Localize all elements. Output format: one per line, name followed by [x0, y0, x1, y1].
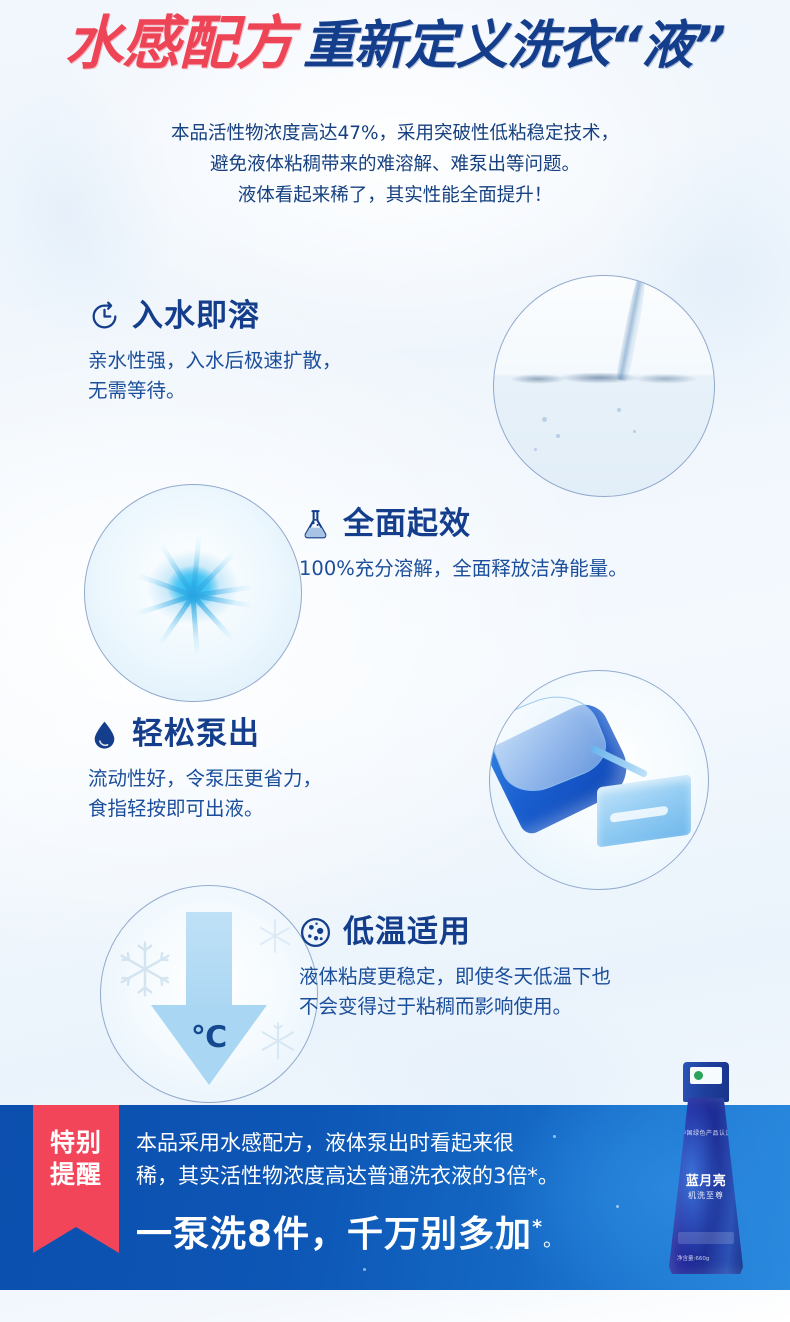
banner-body-line-1: 本品采用水感配方，液体泵出时看起来很: [136, 1127, 559, 1160]
banner-body-line-2: 稀，其实活性物浓度高达普通洗衣液的3倍*。: [136, 1160, 559, 1193]
snowflake-icon: [255, 916, 295, 956]
water-surface-shape: [494, 373, 714, 385]
snowflake-icon: [114, 938, 176, 1000]
bubble-icon: [534, 448, 537, 451]
feature-3-title-row: 轻松泵出: [88, 718, 322, 751]
dotted-circle-icon: [299, 916, 332, 949]
feature-image-water-splash: [84, 484, 302, 702]
feature-2-title: 全面起效: [343, 509, 471, 540]
banner-slogan-text: 一泵洗8件，千万别多加: [136, 1214, 532, 1255]
flask-icon: [299, 508, 332, 541]
water-stream-shape: [615, 275, 650, 382]
feature-4-desc-line-2: 不会变得过于粘稠而影响使用。: [299, 992, 611, 1022]
bottle-cap-certification-label: [690, 1067, 722, 1084]
sparkle-dot: [363, 1268, 366, 1271]
bubble-icon: [556, 434, 560, 438]
feature-image-hand-pump: [489, 670, 709, 890]
feature-2-desc-line-1: 100%充分溶解，全面释放洁净能量。: [299, 554, 628, 584]
banner-slogan-period: 。: [543, 1227, 564, 1251]
feature-image-low-temperature: ℃: [100, 885, 318, 1103]
banner-body-text: 本品采用水感配方，液体泵出时看起来很 稀，其实活性物浓度高达普通洗衣液的3倍*。: [136, 1127, 559, 1193]
bottle-sub-label: 机洗至尊: [669, 1190, 743, 1201]
feature-1-desc-line-1: 亲水性强，入水后极速扩散，: [88, 346, 342, 376]
headline-blue-text: 重新定义洗衣“液”: [303, 16, 725, 76]
page-header: 水感配方重新定义洗衣“液”: [0, 0, 790, 104]
feature-1-description: 亲水性强，入水后极速扩散， 无需等待。: [88, 346, 342, 406]
intro-line-1: 本品活性物浓度高达47%，采用突破性低粘稳定技术，: [0, 118, 790, 149]
feature-block-2: 全面起效 100%充分溶解，全面释放洁净能量。: [299, 508, 628, 584]
feature-4-description: 液体粘度更稳定，即使冬天低温下也 不会变得过于粘稠而影响使用。: [299, 962, 611, 1022]
product-detail-page: 水感配方重新定义洗衣“液” 本品活性物浓度高达47%，采用突破性低粘稳定技术， …: [0, 0, 790, 1322]
feature-4-desc-line-1: 液体粘度更稳定，即使冬天低温下也: [299, 962, 611, 992]
feature-3-title: 轻松泵出: [132, 719, 260, 750]
bubble-icon: [542, 417, 547, 422]
ribbon-line-1: 特别: [33, 1127, 119, 1159]
bottle-cap: [683, 1062, 729, 1102]
water-drop-icon: [88, 718, 121, 751]
bubble-icon: [617, 408, 621, 412]
banner-slogan-asterisk: *: [532, 1216, 543, 1238]
clock-refresh-icon: [88, 300, 121, 333]
feature-4-title: 低温适用: [343, 917, 471, 948]
product-bottle: 中国绿色产品认证 蓝月亮 机洗至尊 净含量:660g: [663, 1062, 749, 1274]
sparkle-dot: [616, 1205, 619, 1208]
special-reminder-ribbon: 特别 提醒: [33, 1105, 119, 1227]
bottle-brand-name: 蓝月亮: [669, 1170, 743, 1189]
intro-line-3: 液体看起来稀了，其实性能全面提升！: [0, 180, 790, 211]
bottle-feature-badges: [678, 1232, 734, 1244]
feature-image-water-pour: [493, 275, 715, 497]
feature-block-3: 轻松泵出 流动性好，令泵压更省力， 食指轻按即可出液。: [88, 718, 322, 824]
feature-block-1: 入水即溶 亲水性强，入水后极速扩散， 无需等待。: [88, 300, 342, 406]
intro-line-2: 避免液体粘稠带来的难溶解、难泵出等问题。: [0, 149, 790, 180]
feature-4-title-row: 低温适用: [299, 916, 611, 949]
feature-3-desc-line-2: 食指轻按即可出液。: [88, 794, 322, 824]
bottle-certification-text: 中国绿色产品认证: [680, 1128, 732, 1137]
feature-1-desc-line-2: 无需等待。: [88, 376, 342, 406]
bubble-icon: [633, 430, 636, 433]
feature-3-desc-line-1: 流动性好，令泵压更省力，: [88, 764, 322, 794]
ribbon-text: 特别 提醒: [33, 1105, 119, 1191]
feature-1-title: 入水即溶: [132, 301, 260, 332]
ribbon-line-2: 提醒: [33, 1159, 119, 1191]
headline-red-text: 水感配方: [65, 9, 303, 77]
feature-3-description: 流动性好，令泵压更省力， 食指轻按即可出液。: [88, 764, 322, 824]
feature-block-4: 低温适用 液体粘度更稳定，即使冬天低温下也 不会变得过于粘稠而影响使用。: [299, 916, 611, 1022]
washer-drawer-shape: [597, 774, 691, 847]
feature-2-title-row: 全面起效: [299, 508, 628, 541]
page-title: 水感配方重新定义洗衣“液”: [0, 14, 790, 73]
intro-paragraph: 本品活性物浓度高达47%，采用突破性低粘稳定技术， 避免液体粘稠带来的难溶解、难…: [0, 118, 790, 211]
banner-slogan: 一泵洗8件，千万别多加*。: [136, 1205, 564, 1261]
feature-1-title-row: 入水即溶: [88, 300, 342, 333]
bottle-body: 中国绿色产品认证 蓝月亮 机洗至尊 净含量:660g: [669, 1098, 743, 1274]
feature-2-description: 100%充分溶解，全面释放洁净能量。: [299, 554, 628, 584]
degree-celsius-label: ℃: [191, 1020, 227, 1055]
bottle-net-weight: 净含量:660g: [677, 1254, 709, 1262]
